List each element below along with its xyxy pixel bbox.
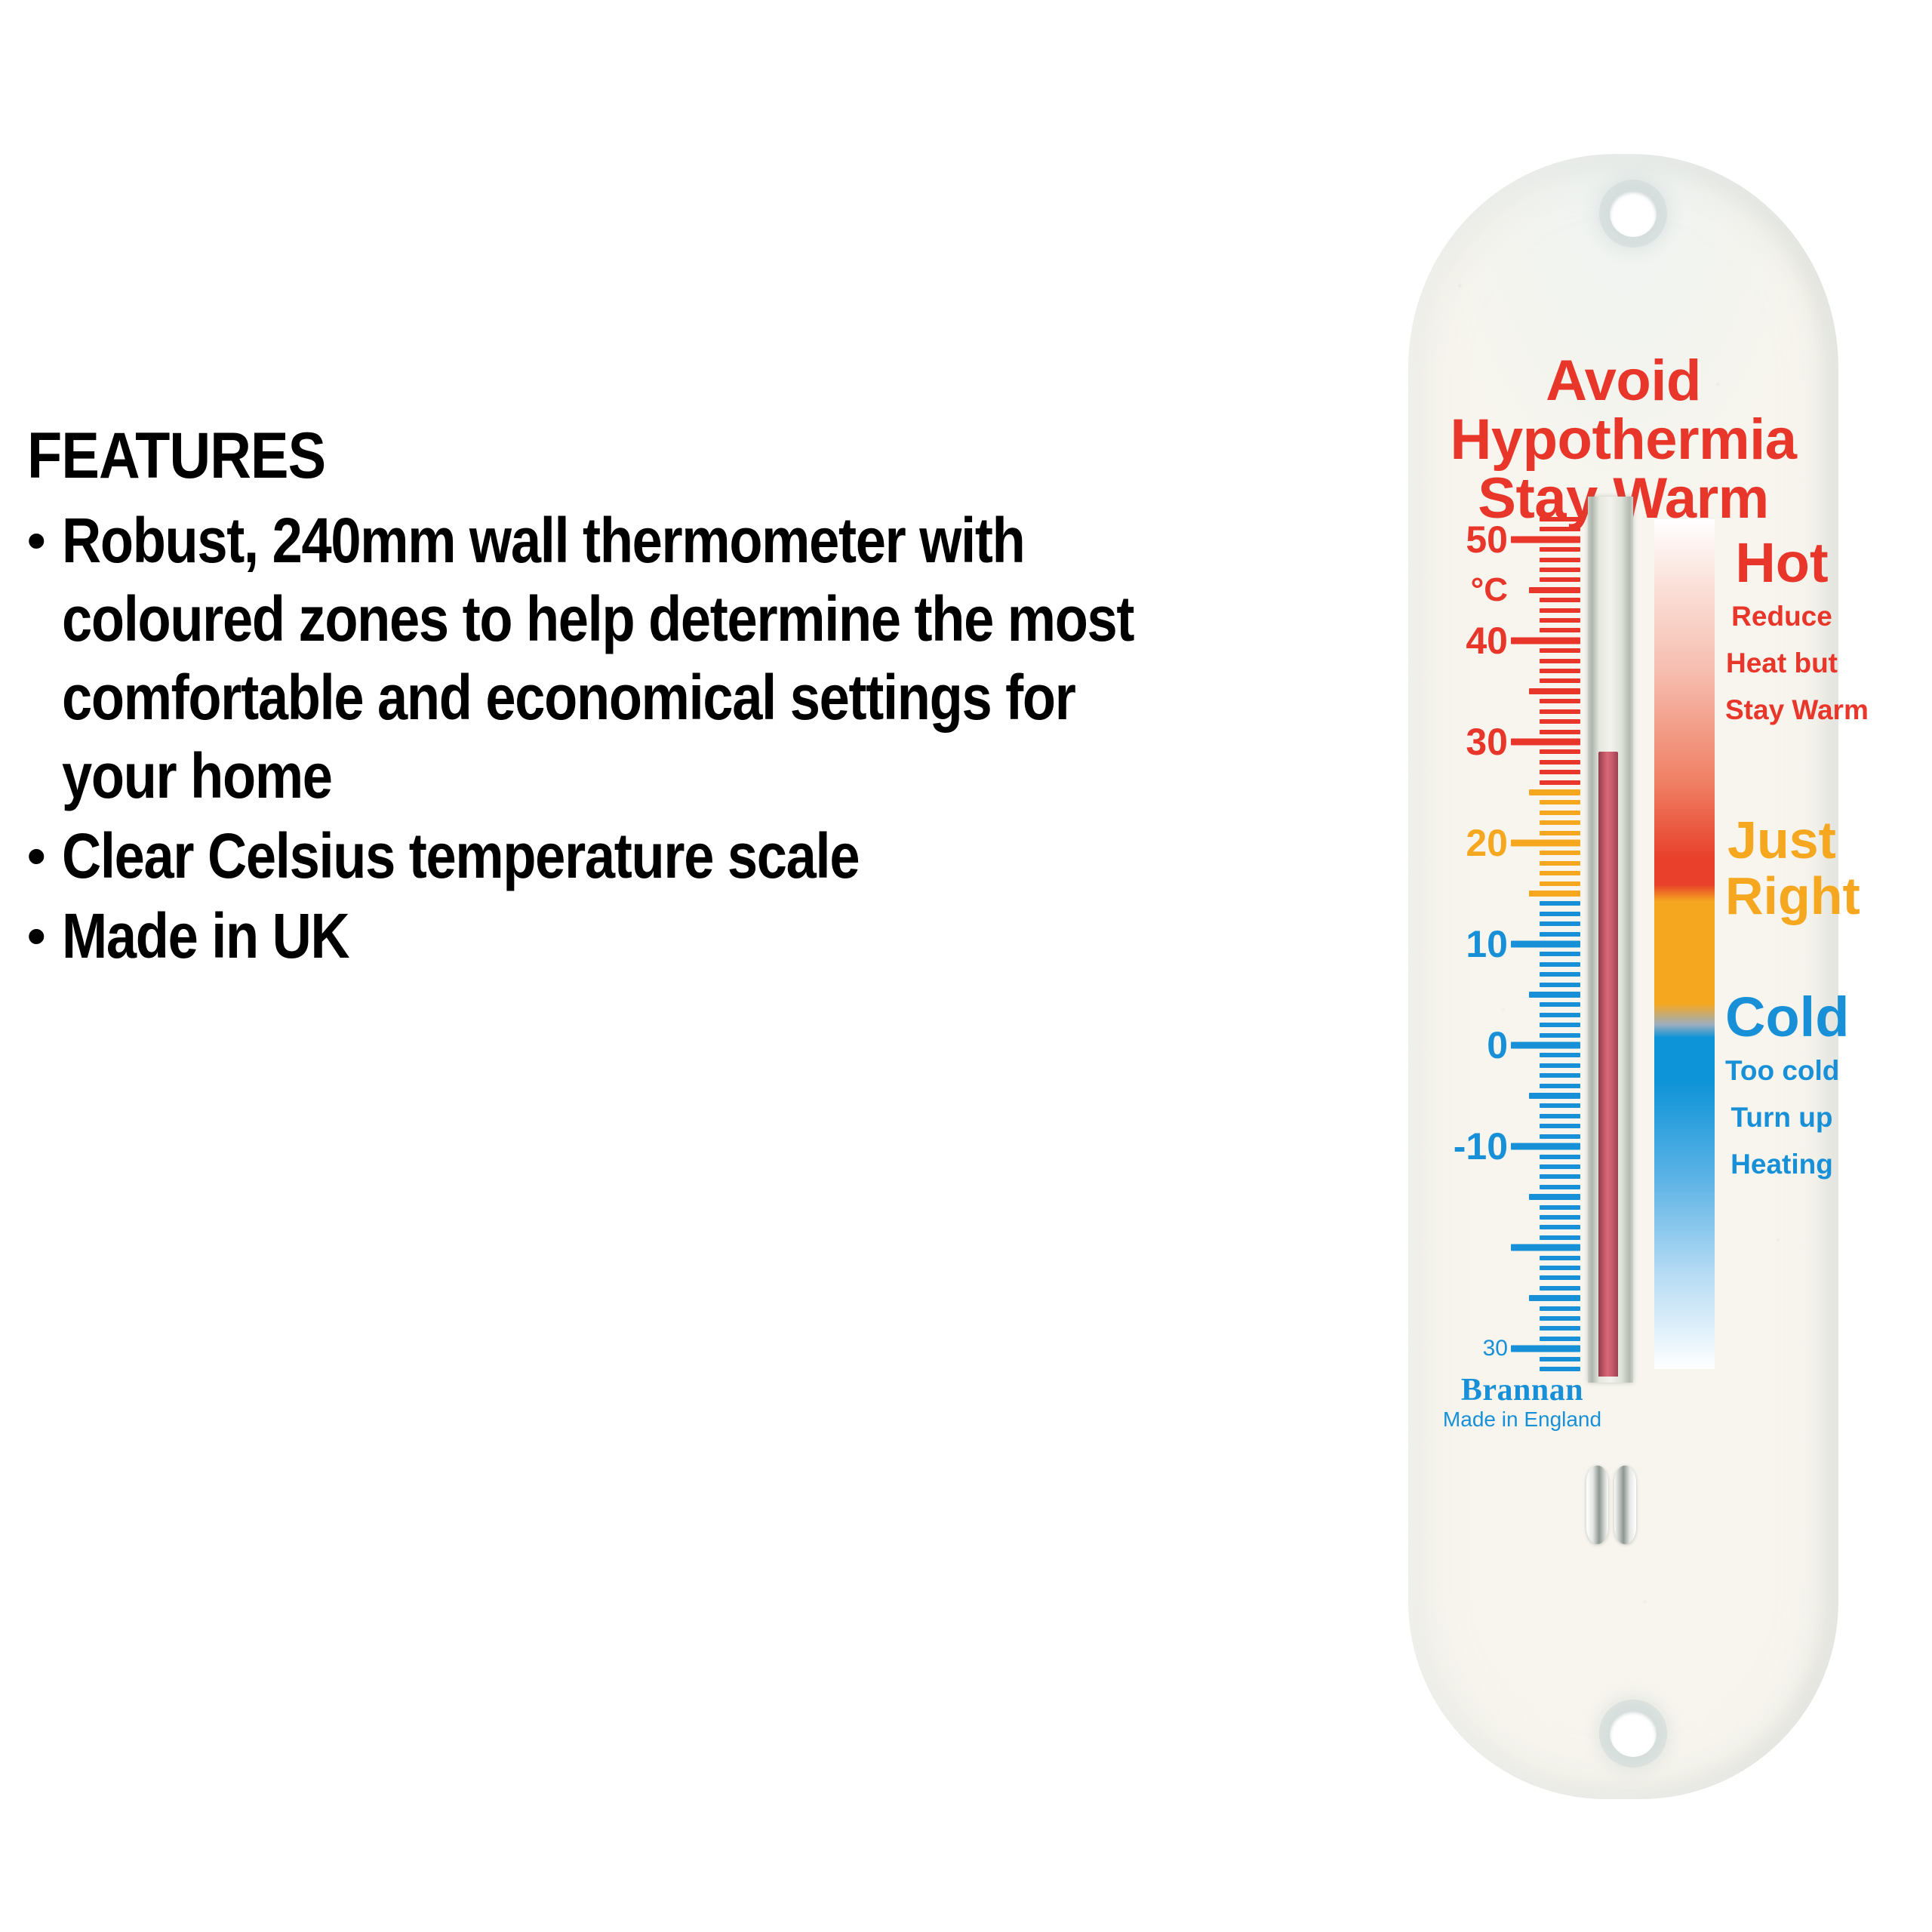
scale-tick: [1540, 760, 1580, 764]
headline-line-2: Hypothermia: [1408, 411, 1838, 469]
scale-tick: [1540, 811, 1580, 815]
scale-tick: [1540, 962, 1580, 967]
zone-cold-line-2: Turn up: [1725, 1094, 1838, 1141]
scale-tick: [1540, 709, 1580, 714]
scale-tick: [1540, 1033, 1580, 1038]
scale-tick: [1540, 1155, 1580, 1159]
scale-label--10: -10: [1454, 1128, 1508, 1165]
scale-tick: [1540, 1256, 1580, 1260]
scale-tick: [1511, 738, 1580, 745]
scale-label-40: 40: [1466, 622, 1508, 660]
glass-capillary-tube: [1588, 497, 1633, 1383]
scale-tick: [1540, 678, 1580, 683]
scale-tick: [1540, 1073, 1580, 1078]
feature-text: Made in UK: [62, 897, 1174, 975]
scale-tick: [1540, 598, 1580, 602]
zone-hot-title: Hot: [1725, 533, 1838, 593]
scale-tick: [1540, 1215, 1580, 1220]
scale-tick: [1540, 659, 1580, 663]
scale-tick: [1540, 983, 1580, 987]
scale-tick: [1540, 1205, 1580, 1210]
scale-tick: [1540, 517, 1580, 521]
scale-label-20: 20: [1466, 824, 1508, 862]
scale-tick: [1540, 749, 1580, 754]
scale-tick: [1540, 1134, 1580, 1139]
scale-label-30: 30: [1466, 723, 1508, 761]
scale-tick: [1540, 1306, 1580, 1311]
scale-tick: [1540, 831, 1580, 835]
zone-hot-line-1: Reduce: [1725, 593, 1838, 640]
zone-just-right-title-line-1: Just: [1725, 812, 1838, 868]
scale-tick: [1540, 1235, 1580, 1240]
scale-tick: [1540, 1337, 1580, 1341]
scale-label-50: 50: [1466, 521, 1508, 558]
scale-tick: [1529, 891, 1580, 897]
brand-block: Brannan Made in England: [1428, 1374, 1617, 1432]
scale-tick: [1540, 1174, 1580, 1179]
scale-label-0: 0: [1487, 1026, 1508, 1064]
brand-name: Brannan: [1428, 1374, 1617, 1407]
zone-cold-line-3: Heating: [1725, 1141, 1838, 1188]
colour-zone-gradient-bar: [1654, 519, 1715, 1369]
clip-half-right: [1614, 1466, 1636, 1544]
scale-tick: [1540, 1124, 1580, 1128]
scale-tick: [1540, 972, 1580, 977]
zone-labels: Hot Reduce Heat but Stay Warm Just Right…: [1725, 519, 1838, 1369]
scale-tick: [1540, 1063, 1580, 1068]
bulb-retaining-clip: [1586, 1466, 1636, 1544]
zone-just-right-title-line-2: Right: [1725, 868, 1838, 924]
bullet-icon: •: [27, 897, 62, 975]
scale-tick: [1529, 992, 1580, 998]
scale-tick: [1540, 1185, 1580, 1189]
scale-tick-marks: [1511, 519, 1580, 1369]
scale-tick: [1540, 1286, 1580, 1291]
feature-item: • Robust, 240mm wall thermometer with co…: [27, 501, 1355, 815]
scale-tick: [1540, 901, 1580, 906]
liquid-column: [1598, 752, 1618, 1377]
scale-tick: [1540, 770, 1580, 774]
scale-tick: [1540, 1316, 1580, 1321]
zone-hot-line-2: Heat but: [1725, 640, 1838, 687]
scale-number-labels: 50403020100-1030°C: [1408, 519, 1508, 1369]
scale-tick: [1540, 558, 1580, 562]
zone-cold: Cold Too cold Turn up Heating: [1725, 987, 1838, 1188]
zone-cold-title: Cold: [1725, 987, 1838, 1048]
mounting-hole-bottom: [1610, 1710, 1657, 1757]
scale-label--30: 30: [1483, 1330, 1508, 1367]
bullet-icon: •: [27, 817, 62, 895]
feature-item: • Clear Celsius temperature scale: [27, 817, 1355, 895]
scale-tick: [1540, 1275, 1580, 1280]
scale-tick: [1540, 861, 1580, 866]
scale-tick: [1529, 1093, 1580, 1099]
scale-tick: [1511, 1143, 1580, 1150]
zone-cold-line-1: Too cold: [1725, 1048, 1838, 1094]
bullet-icon: •: [27, 501, 62, 580]
scale-tick: [1540, 851, 1580, 855]
features-panel: FEATURES • Robust, 240mm wall thermomete…: [27, 420, 1355, 977]
feature-item: • Made in UK: [27, 897, 1355, 975]
scale-tick: [1540, 871, 1580, 875]
scale-tick: [1540, 1103, 1580, 1108]
scale-tick: [1540, 912, 1580, 916]
scale-unit-label: °C: [1471, 571, 1508, 609]
scale-tick: [1511, 839, 1580, 846]
scale-tick: [1511, 1346, 1580, 1352]
scale-tick: [1529, 1194, 1580, 1200]
brand-origin: Made in England: [1428, 1407, 1617, 1432]
scale-tick: [1540, 527, 1580, 531]
scale-tick: [1529, 789, 1580, 795]
scale-tick: [1511, 1042, 1580, 1049]
scale-tick: [1540, 1013, 1580, 1017]
feature-text: Robust, 240mm wall thermometer with colo…: [62, 501, 1174, 815]
scale-tick: [1540, 699, 1580, 703]
scale-tick: [1540, 547, 1580, 552]
scale-tick: [1540, 1225, 1580, 1229]
scale-tick: [1540, 669, 1580, 673]
scale-tick: [1540, 952, 1580, 956]
zone-hot-line-3: Stay Warm: [1725, 687, 1838, 734]
scale-tick: [1540, 780, 1580, 785]
features-heading: FEATURES: [27, 420, 1196, 492]
mounting-hole-top: [1610, 190, 1657, 237]
scale-tick: [1540, 921, 1580, 926]
scale-tick: [1540, 577, 1580, 582]
scale-tick: [1511, 1244, 1580, 1251]
scale-tick: [1540, 1002, 1580, 1007]
headline-line-1: Avoid: [1408, 352, 1838, 411]
scale-tick: [1511, 536, 1580, 543]
scale-tick: [1529, 688, 1580, 694]
scale-tick: [1540, 608, 1580, 613]
wall-thermometer-product: Avoid Hypothermia Stay Warm 50403020100-…: [1408, 154, 1838, 1799]
scale-tick: [1540, 1326, 1580, 1331]
feature-text: Clear Celsius temperature scale: [62, 817, 1174, 895]
scale-tick: [1540, 1084, 1580, 1088]
scale-tick: [1540, 618, 1580, 623]
scale-tick: [1540, 820, 1580, 825]
scale-tick: [1540, 1023, 1580, 1027]
scale-tick: [1540, 730, 1580, 734]
scale-tick: [1540, 1266, 1580, 1270]
scale-tick: [1511, 941, 1580, 948]
scale-tick: [1540, 881, 1580, 886]
scale-tick: [1540, 932, 1580, 937]
clip-half-left: [1586, 1466, 1608, 1544]
scale-tick: [1540, 628, 1580, 632]
scale-tick: [1540, 1053, 1580, 1057]
scale-tick: [1540, 568, 1580, 572]
scale-tick: [1511, 637, 1580, 644]
scale-tick: [1540, 1367, 1580, 1371]
scale-label-10: 10: [1466, 925, 1508, 963]
scale-tick: [1540, 719, 1580, 724]
scale-tick: [1540, 1357, 1580, 1361]
zone-just-right: Just Right: [1725, 812, 1838, 924]
features-list: • Robust, 240mm wall thermometer with co…: [27, 501, 1355, 975]
zone-hot: Hot Reduce Heat but Stay Warm: [1725, 533, 1838, 734]
scale-tick: [1540, 1114, 1580, 1118]
scale-tick: [1540, 800, 1580, 804]
scale-tick: [1529, 1295, 1580, 1301]
scale-tick: [1540, 648, 1580, 653]
scale-tick: [1529, 587, 1580, 593]
scale-tick: [1540, 1164, 1580, 1169]
